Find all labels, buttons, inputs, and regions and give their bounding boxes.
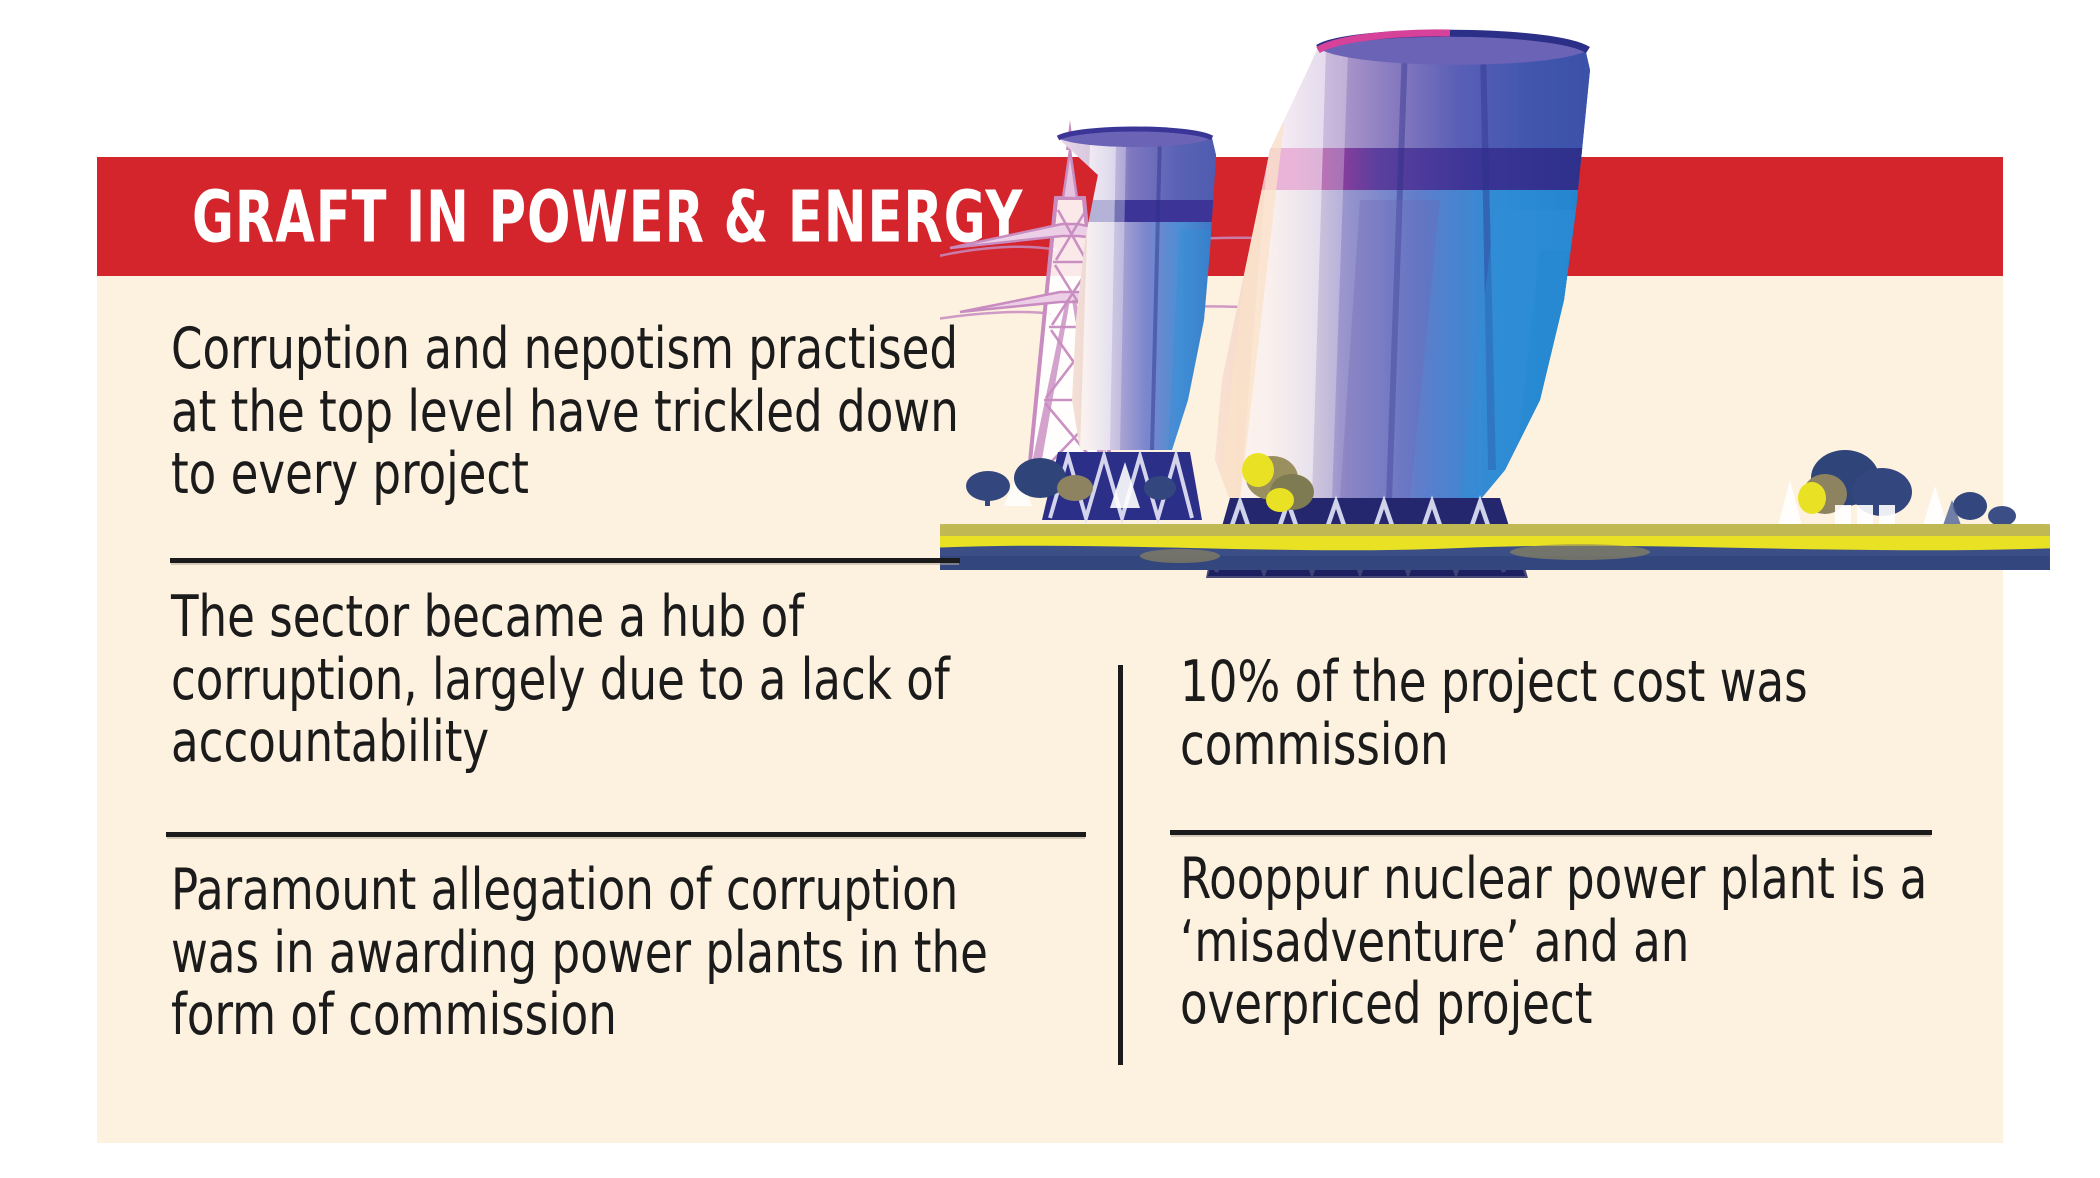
divider-left-1	[170, 558, 960, 563]
divider-right-1	[1170, 830, 1932, 835]
divider-left-2	[166, 832, 1086, 837]
facts-area: Corruption and nepotism practised at the…	[97, 276, 2003, 1143]
page-title: GRAFT IN POWER & ENERGY	[192, 181, 1023, 252]
fact-item-3: Paramount allegation of corruption was i…	[171, 859, 1060, 1047]
fact-item-4: 10% of the project cost was commission	[1180, 651, 1937, 776]
divider-vertical	[1118, 665, 1123, 1065]
infographic-root: GRAFT IN POWER & ENERGY	[0, 0, 2100, 1178]
title-banner: GRAFT IN POWER & ENERGY	[97, 157, 2003, 276]
fact-item-2: The sector became a hub of corruption, l…	[171, 586, 1060, 774]
fact-item-5: Rooppur nuclear power plant is a ‘misadv…	[1180, 848, 1937, 1036]
fact-item-1: Corruption and nepotism practised at the…	[171, 318, 963, 506]
